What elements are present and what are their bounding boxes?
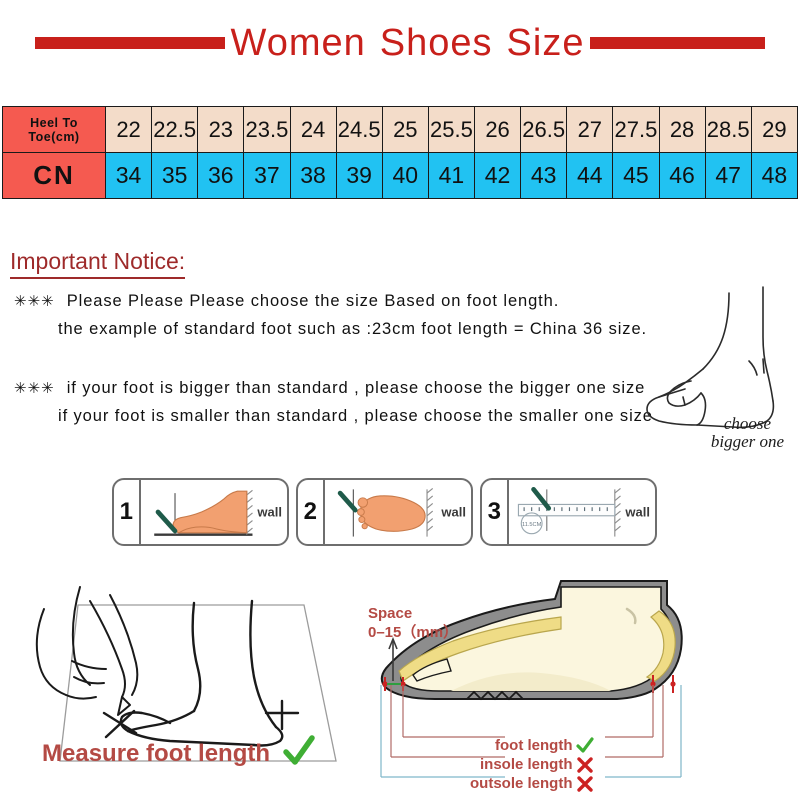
dimension-label-outsole-length: outsole length [470, 774, 594, 793]
foot-sole-view-icon: wall [325, 480, 471, 544]
cm-cell: 22 [106, 107, 152, 153]
cn-cell: 39 [336, 153, 382, 199]
notice-line-3-text: if your foot is bigger than standard , p… [67, 379, 645, 397]
title-word-women: Women [231, 22, 366, 64]
step-box-2: 2 [296, 478, 473, 546]
cm-cell: 23.5 [244, 107, 290, 153]
cm-cell: 28 [659, 107, 705, 153]
cn-cell: 35 [152, 153, 198, 199]
cn-cell: 38 [290, 153, 336, 199]
row-label-heel-to-toe: Heel To Toe(cm) [3, 107, 106, 153]
space-annotation: Space 0–15（mm） [368, 604, 458, 642]
cn-cell: 47 [705, 153, 751, 199]
measurement-steps: 1 [112, 478, 657, 546]
cn-cell: 46 [659, 153, 705, 199]
dimension-label-foot-length: foot length [470, 736, 594, 755]
step-2-wall-label: wall [441, 505, 466, 520]
cm-cell: 26 [475, 107, 521, 153]
green-check-icon [282, 735, 316, 769]
cn-cell: 45 [613, 153, 659, 199]
page-title: WomenShoesSize [0, 14, 800, 72]
title-bar-right [590, 37, 765, 49]
cn-cell: 40 [382, 153, 428, 199]
step-box-3: 3 [480, 478, 657, 546]
cm-cell: 26.5 [521, 107, 567, 153]
choose-bigger-caption: choose bigger one [690, 415, 800, 451]
ruler-measure-icon: 11.5CM wall [509, 480, 655, 544]
cn-cell: 37 [244, 153, 290, 199]
space-label-line-1: Space [368, 604, 458, 623]
row-label-cn: CN [3, 153, 106, 199]
notice-heading: Important Notice: [10, 248, 185, 279]
notice-line-2: the example of standard foot such as :23… [58, 320, 647, 339]
cm-cell: 23 [198, 107, 244, 153]
cm-cell: 25 [382, 107, 428, 153]
notice-stars-2: ✳✳✳ [14, 380, 55, 397]
size-chart-page: WomenShoesSize Heel To Toe(cm) 2222.5232… [0, 0, 800, 800]
step-number-2: 2 [298, 480, 325, 544]
cn-cell: 42 [475, 153, 521, 199]
cm-cell: 27.5 [613, 107, 659, 153]
dimension-label-insole-length: insole length [470, 755, 594, 774]
cm-cell: 29 [751, 107, 797, 153]
cn-cell: 41 [428, 153, 474, 199]
dimension-labels: foot length insole length outsole length [470, 736, 594, 793]
page-title-text: WomenShoesSize [231, 22, 585, 65]
green-check-icon [576, 737, 594, 755]
cn-cell: 36 [198, 153, 244, 199]
title-word-size: Size [507, 22, 585, 64]
cm-cell: 24 [290, 107, 336, 153]
cm-cell: 24.5 [336, 107, 382, 153]
foot-side-view-icon: wall [141, 480, 287, 544]
notice-line-1: ✳✳✳Please Please Please choose the size … [14, 292, 559, 311]
step-number-1: 1 [114, 480, 141, 544]
choose-caption-line-1: choose [690, 415, 800, 433]
choose-caption-line-2: bigger one [690, 433, 800, 451]
cm-cell: 25.5 [428, 107, 474, 153]
title-bar-left [35, 37, 225, 49]
notice-stars-1: ✳✳✳ [14, 293, 55, 310]
cn-cell: 43 [521, 153, 567, 199]
step-number-3: 3 [482, 480, 509, 544]
table-row-cn: CN 343536373839404142434445464748 [3, 153, 798, 199]
dimension-label-insole-length-text: insole length [480, 755, 573, 774]
dimension-label-outsole-length-text: outsole length [470, 774, 573, 793]
cm-cell: 27 [567, 107, 613, 153]
cn-cell: 48 [751, 153, 797, 199]
red-cross-icon [576, 775, 594, 793]
svg-text:11.5CM: 11.5CM [522, 522, 542, 528]
step-box-1: 1 [112, 478, 289, 546]
cn-cell: 34 [106, 153, 152, 199]
cm-cell: 28.5 [705, 107, 751, 153]
size-conversion-table: Heel To Toe(cm) 2222.52323.52424.52525.5… [2, 106, 798, 199]
notice-line-3: ✳✳✳if your foot is bigger than standard … [14, 379, 645, 398]
red-cross-icon [576, 756, 594, 774]
table-row-heel-to-toe: Heel To Toe(cm) 2222.52323.52424.52525.5… [3, 107, 798, 153]
step-1-wall-label: wall [257, 505, 282, 520]
space-label-line-2: 0–15（mm） [368, 623, 458, 642]
title-word-shoes: Shoes [380, 22, 493, 64]
dimension-label-foot-length-text: foot length [495, 736, 572, 755]
cn-cell: 44 [567, 153, 613, 199]
notice-line-4: if your foot is smaller than standard , … [58, 407, 653, 426]
cm-cell: 22.5 [152, 107, 198, 153]
measure-foot-length-caption: Measure foot length [42, 740, 270, 768]
notice-line-1-text: Please Please Please choose the size Bas… [67, 292, 560, 310]
step-3-wall-label: wall [625, 505, 650, 520]
